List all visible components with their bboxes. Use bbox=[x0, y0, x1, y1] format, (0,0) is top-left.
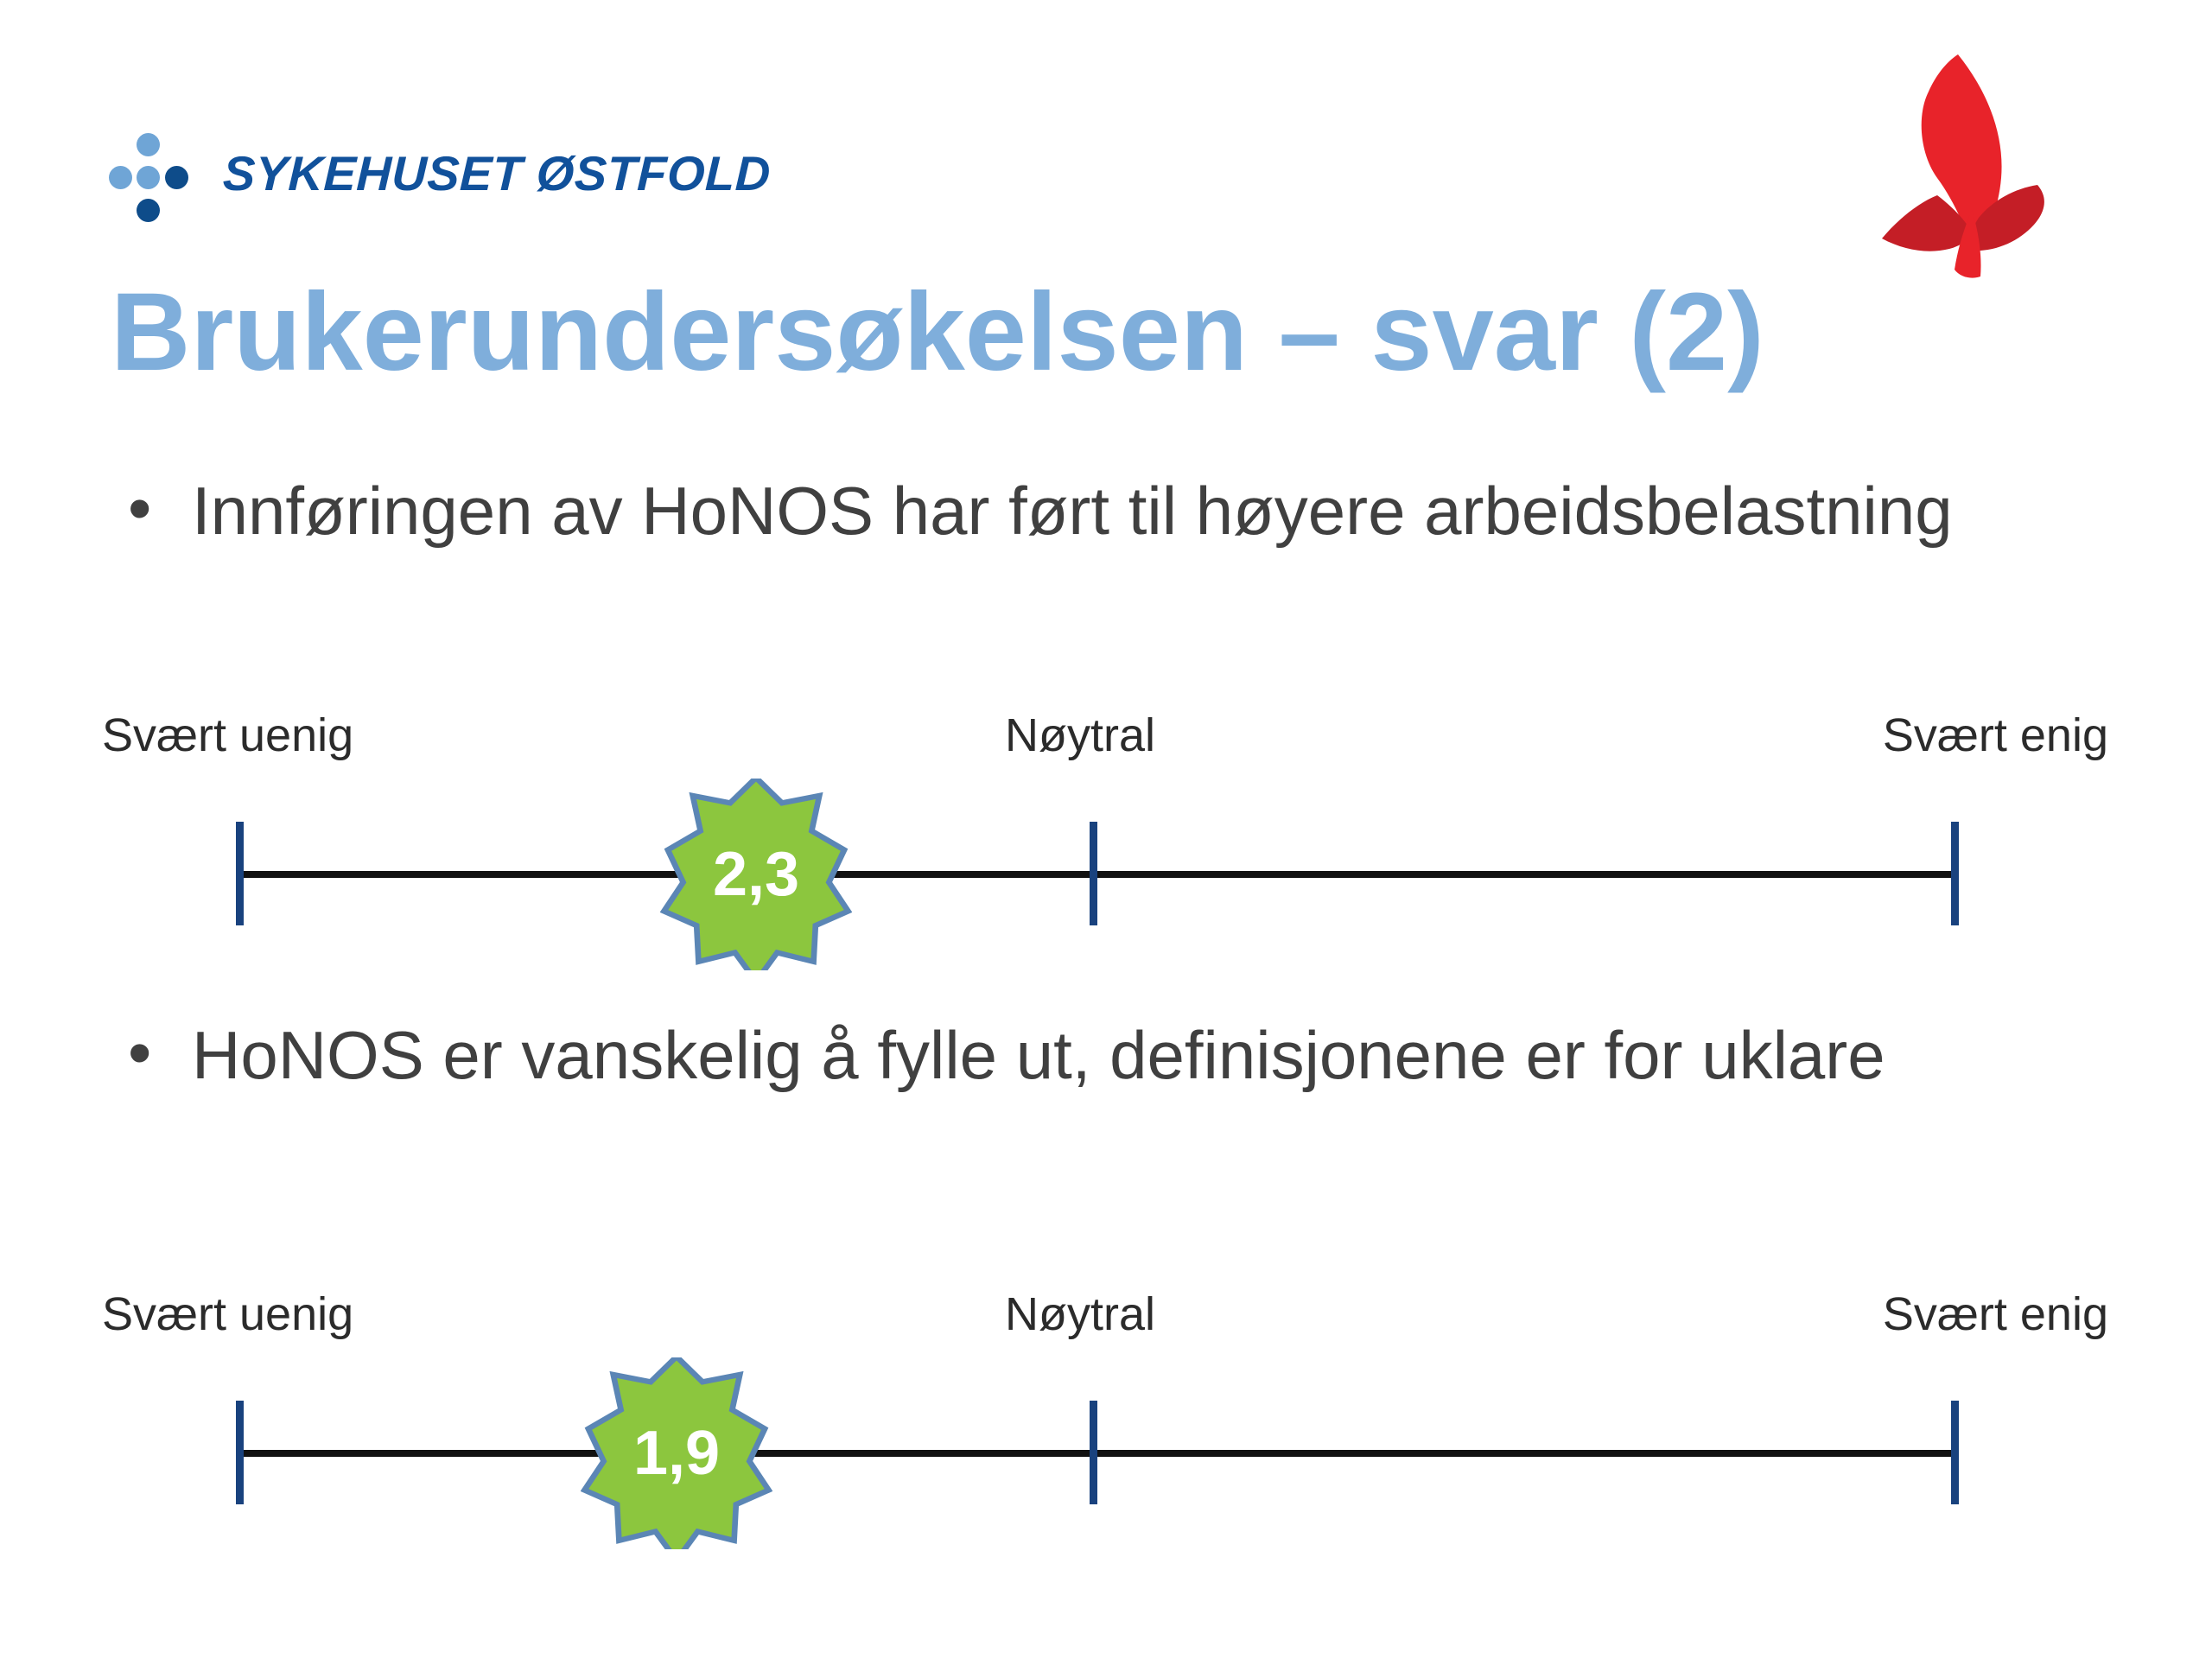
bullet-marker-2: • bbox=[112, 1015, 192, 1090]
scale-1-label-right: Svært enig bbox=[1883, 709, 2108, 762]
red-butterfly-icon bbox=[1875, 33, 2091, 292]
bullet-text-2: HoNOS er vanskelig å fylle ut, definisjo… bbox=[192, 1015, 1885, 1096]
slide-canvas: SYKEHUSET ØSTFOLD Brukerundersøkelsen – … bbox=[0, 0, 2212, 1659]
eight-point-star-icon bbox=[660, 779, 852, 970]
logo-dot-center bbox=[137, 166, 160, 189]
scale-1-tick-mid bbox=[1090, 822, 1097, 925]
scale-2-tick-mid bbox=[1090, 1401, 1097, 1504]
scale-1-labels: Svært uenig Nøytral Svært enig bbox=[0, 709, 2212, 769]
page-title: Brukerundersøkelsen – svar (2) bbox=[111, 275, 1764, 391]
bullet-item-2: • HoNOS er vanskelig å fylle ut, definis… bbox=[112, 1015, 2100, 1096]
scale-2-label-left: Svært uenig bbox=[102, 1287, 353, 1341]
scale-2-label-right: Svært enig bbox=[1883, 1287, 2108, 1341]
bullet-text-1: Innføringen av HoNOS har ført til høyere… bbox=[192, 471, 1953, 552]
logo-dot-top bbox=[137, 133, 160, 156]
logo-dot-left bbox=[109, 166, 132, 189]
scale-2-label-mid: Nøytral bbox=[1005, 1287, 1155, 1341]
scale-2-value-badge: 1,9 bbox=[581, 1357, 772, 1549]
brand-name: SYKEHUSET ØSTFOLD bbox=[222, 145, 772, 201]
rating-scale-1: Svært uenig Nøytral Svært enig 2,3 bbox=[0, 709, 2212, 1020]
scale-1-label-left: Svært uenig bbox=[102, 709, 353, 762]
eight-point-star-icon bbox=[581, 1357, 772, 1549]
bullet-item-1: • Innføringen av HoNOS har ført til høye… bbox=[112, 471, 2100, 552]
scale-1-tick-right bbox=[1951, 822, 1959, 925]
scale-1-value-badge: 2,3 bbox=[660, 779, 852, 970]
logo-dot-bottom bbox=[137, 199, 160, 222]
scale-2-axis-line bbox=[238, 1450, 1957, 1457]
sykehuset-dots-icon bbox=[104, 128, 194, 218]
scale-1-tick-left bbox=[236, 822, 244, 925]
scale-1-label-mid: Nøytral bbox=[1005, 709, 1155, 762]
scale-2-labels: Svært uenig Nøytral Svært enig bbox=[0, 1287, 2212, 1348]
scale-1-axis-line bbox=[238, 871, 1957, 878]
brand-logo: SYKEHUSET ØSTFOLD bbox=[104, 128, 771, 218]
scale-2-tick-right bbox=[1951, 1401, 1959, 1504]
scale-2-tick-left bbox=[236, 1401, 244, 1504]
bullet-marker-1: • bbox=[112, 471, 192, 546]
logo-dot-right bbox=[165, 166, 188, 189]
rating-scale-2: Svært uenig Nøytral Svært enig 1,9 bbox=[0, 1287, 2212, 1599]
